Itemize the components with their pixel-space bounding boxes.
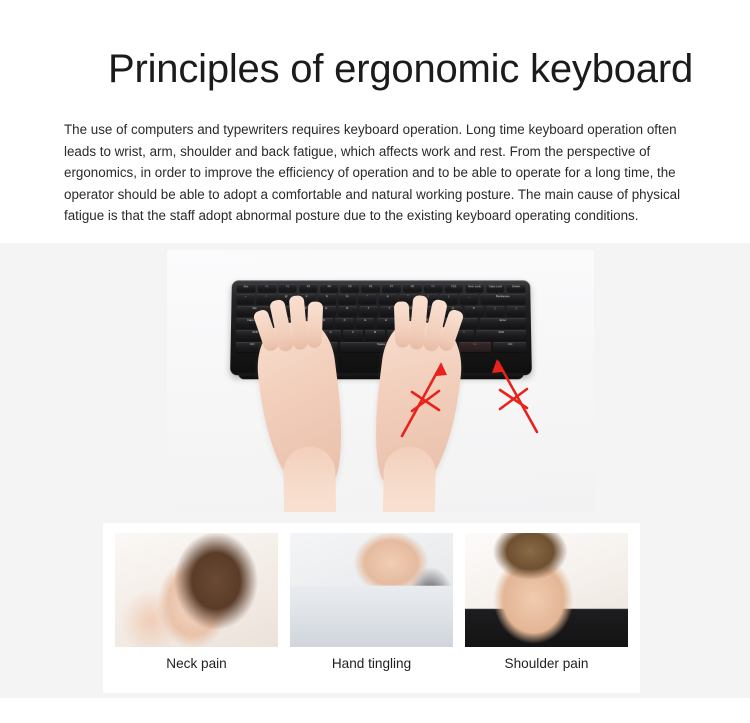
page-footer-spacer [0, 698, 750, 723]
symptom-caption-neck-pain: Neck pain [115, 651, 278, 677]
symptom-caption-shoulder-pain: Shoulder pain [465, 651, 628, 677]
page-title: Principles of ergonomic keyboard [108, 47, 728, 92]
symptom-caption-hand-tingling: Hand tingling [290, 651, 453, 677]
symptom-image-hand-tingling [290, 533, 453, 647]
symptom-image-shoulder-pain [465, 533, 628, 647]
left-arrow-shaft [402, 365, 441, 436]
product-detail-page: Principles of ergonomic keyboard The use… [0, 0, 750, 723]
intro-paragraph: The use of computers and typewriters req… [64, 119, 690, 227]
symptom-captions: Neck pain Hand tingling Shoulder pain [115, 651, 628, 677]
symptom-image-neck-pain [115, 533, 278, 647]
symptom-thumbnails [115, 533, 628, 647]
hero-keyboard-photo: Esc F1 F2 F3 F4 F5 F6 F7 F8 F9 F10 Num L… [167, 250, 594, 512]
annotation-marks-overlay [167, 250, 594, 512]
header-section: Principles of ergonomic keyboard The use… [0, 0, 750, 243]
symptoms-card: Neck pain Hand tingling Shoulder pain [103, 523, 640, 693]
